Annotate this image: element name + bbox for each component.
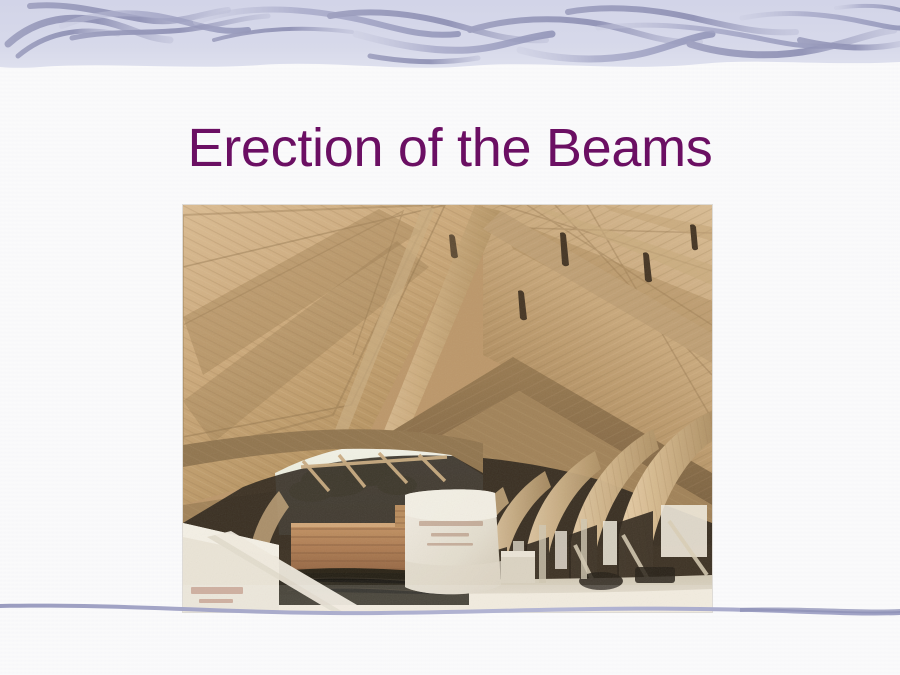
presentation-slide: Erection of the Beams	[0, 0, 900, 675]
slide-title: Erection of the Beams	[0, 118, 900, 178]
top-decorative-band	[0, 0, 900, 74]
slide-photo	[183, 205, 712, 612]
